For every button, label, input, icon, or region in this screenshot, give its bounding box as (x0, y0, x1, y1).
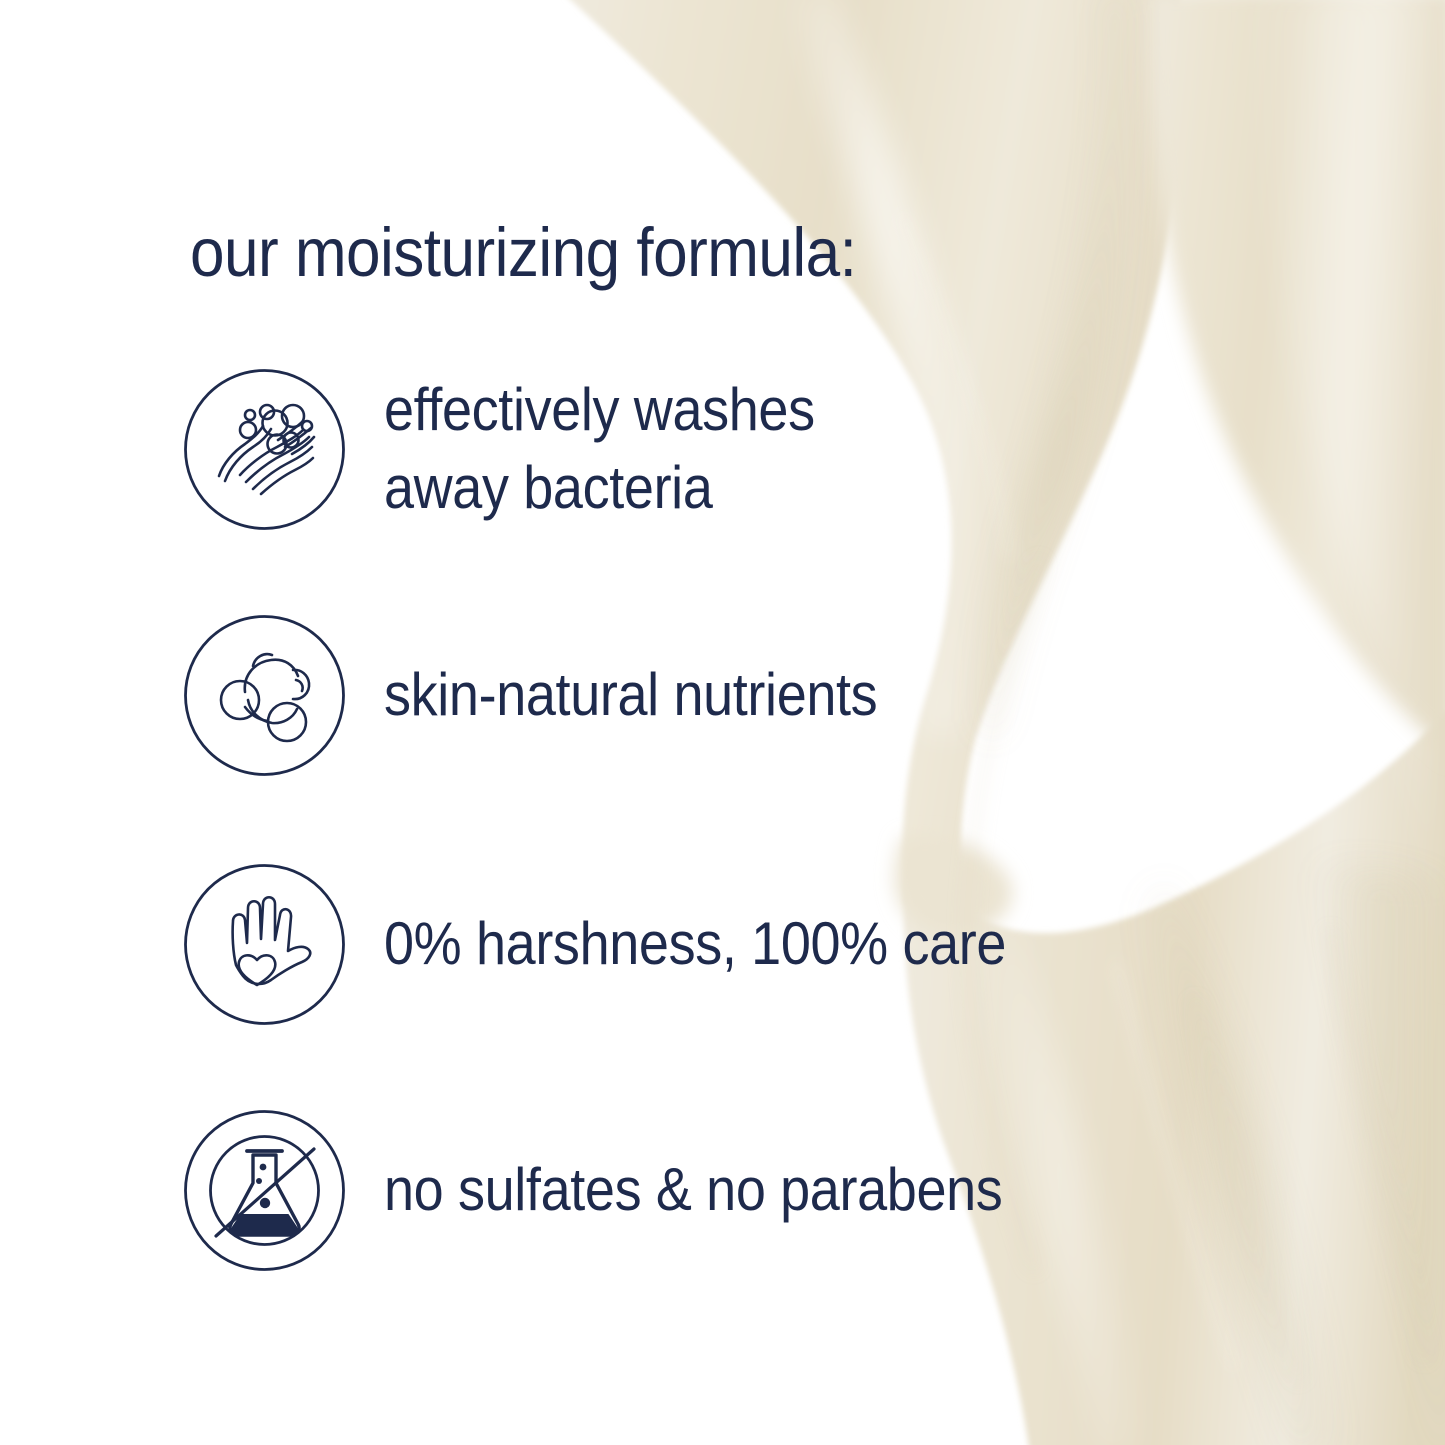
list-item-label: effectively washes away bacteria (384, 371, 1238, 527)
hand-with-heart-icon (183, 863, 346, 1026)
nutrient-molecule-icon (183, 614, 346, 777)
washing-hands-bubbles-icon (183, 368, 346, 531)
list-item: effectively washes away bacteria (183, 367, 1333, 531)
list-item: 0% harshness, 100% care (183, 862, 1333, 1026)
no-chemicals-flask-icon (183, 1109, 346, 1272)
list-item: no sulfates & no parabens (183, 1108, 1333, 1272)
list-item-label: skin-natural nutrients (384, 656, 1238, 734)
product-benefits-graphic: our moisturizing formula: (0, 0, 1445, 1445)
list-item-label: 0% harshness, 100% care (384, 905, 1238, 983)
list-item: skin-natural nutrients (183, 613, 1333, 777)
benefits-list: effectively washes away bacteria (0, 0, 1445, 1445)
list-item-label: no sulfates & no parabens (384, 1151, 1238, 1229)
